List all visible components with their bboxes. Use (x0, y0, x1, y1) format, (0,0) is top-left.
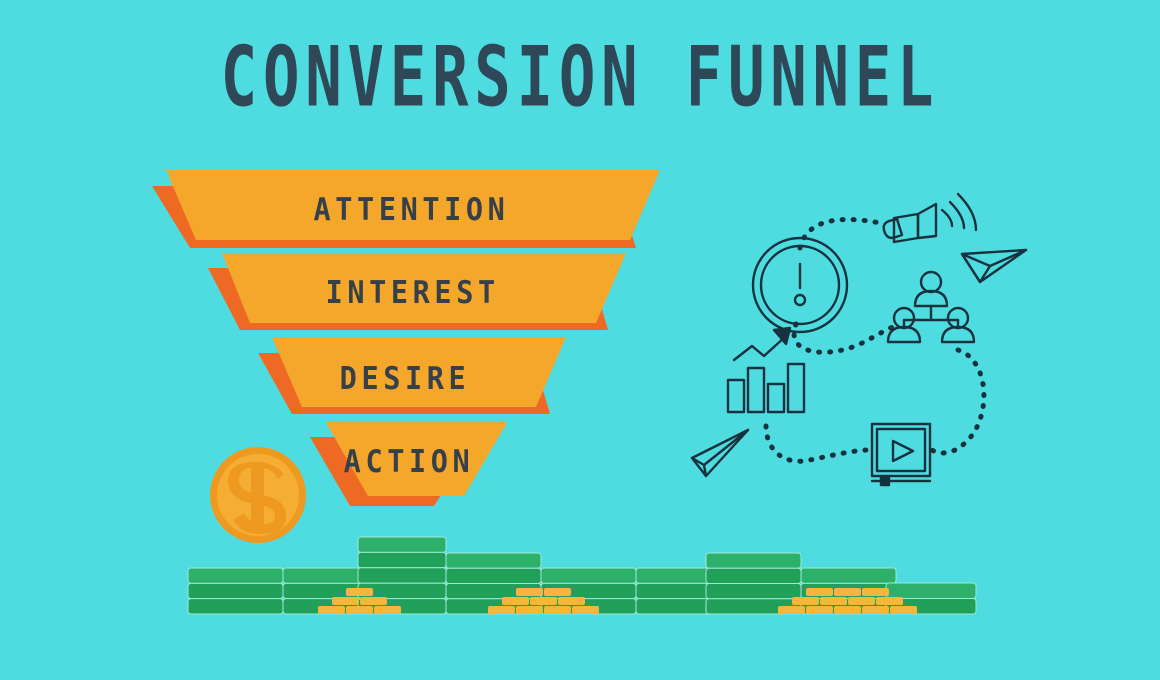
money-coin (502, 597, 529, 605)
money-coin (346, 606, 373, 614)
money-coin (820, 597, 847, 605)
money-bill (706, 568, 801, 583)
dotted-path-upper (800, 219, 885, 248)
money-coin (890, 606, 917, 614)
paper-plane-send-icon (692, 430, 748, 476)
video-player-icon (872, 424, 930, 485)
megaphone-icon (884, 194, 976, 242)
money-bill (188, 599, 283, 614)
money-coin (572, 606, 599, 614)
money-bill (188, 583, 283, 598)
dotted-path-right (932, 350, 984, 453)
poster-canvas: CONVERSION FUNNEL ATTENTION INTEREST DES… (0, 0, 1160, 680)
money-coin (558, 597, 585, 605)
money-coin (862, 588, 889, 596)
money-bill (706, 553, 801, 568)
money-coin (318, 606, 345, 614)
money-bill (358, 537, 446, 552)
money-bill (358, 552, 446, 567)
money-coin (778, 606, 805, 614)
money-bill (886, 583, 976, 599)
money-bill (446, 553, 541, 568)
money-bill (801, 568, 896, 583)
money-coin (806, 588, 833, 596)
bar-chart-growth-icon (728, 328, 804, 412)
money-coin (834, 606, 861, 614)
money-coin (848, 597, 875, 605)
money-bill (541, 568, 636, 583)
alert-circle-icon (753, 238, 847, 332)
money-coin (792, 597, 819, 605)
money-coin (516, 588, 543, 596)
money-coin (516, 606, 543, 614)
money-bill (188, 568, 283, 583)
money-coin (346, 588, 373, 596)
dotted-path-lower (766, 426, 870, 461)
money-bill (358, 568, 446, 583)
money-bill (446, 568, 541, 583)
money-coin (544, 606, 571, 614)
money-coin (862, 606, 889, 614)
money-coin (530, 597, 557, 605)
paper-plane-icon (962, 250, 1026, 282)
dotted-path-middle (794, 324, 896, 352)
money-coin (876, 597, 903, 605)
money-coin (488, 606, 515, 614)
money-coin (374, 606, 401, 614)
marketing-doodle-cluster (680, 178, 1040, 498)
money-coin (360, 597, 387, 605)
money-coin (834, 588, 861, 596)
money-coin (332, 597, 359, 605)
money-coin (544, 588, 571, 596)
money-bill (706, 584, 801, 599)
people-network-icon (888, 272, 974, 342)
money-coin (806, 606, 833, 614)
